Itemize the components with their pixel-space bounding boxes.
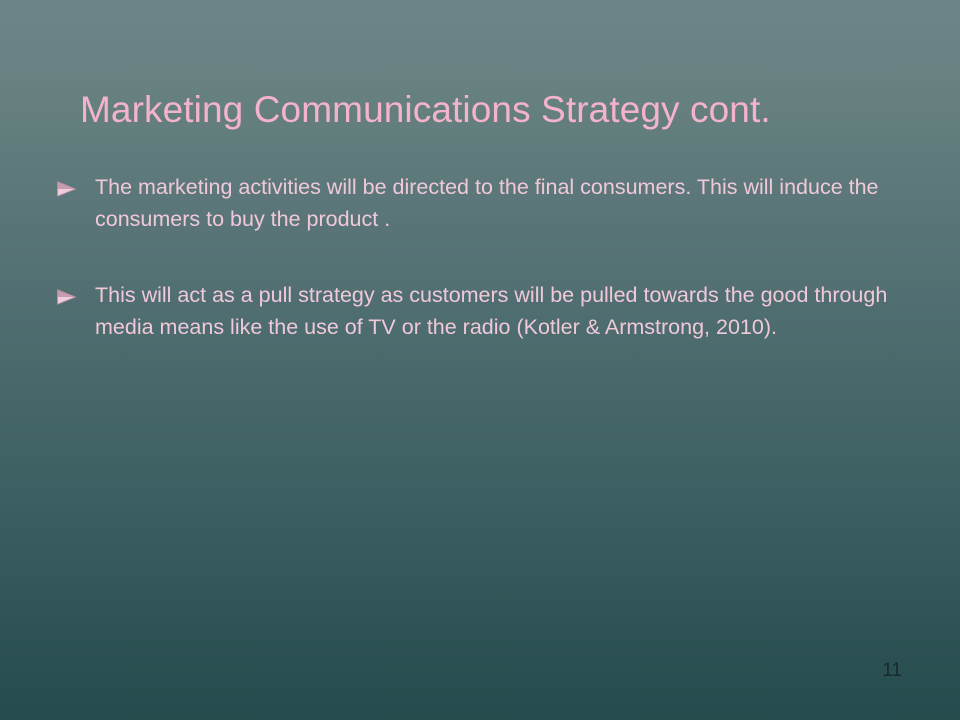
arrowhead-bullet-icon [56, 172, 95, 197]
page-number: 11 [882, 660, 902, 682]
presentation-slide: Marketing Communications Strategy cont. … [0, 0, 960, 720]
list-item: The marketing activities will be directe… [56, 172, 904, 235]
slide-body-content: The marketing activities will be directe… [56, 172, 904, 343]
list-item: This will act as a pull strategy as cust… [56, 280, 904, 343]
page-title: Marketing Communications Strategy cont. [80, 87, 892, 133]
list-item-text: This will act as a pull strategy as cust… [95, 280, 895, 343]
arrowhead-bullet-icon [56, 280, 95, 305]
list-item-text: The marketing activities will be directe… [95, 172, 895, 235]
